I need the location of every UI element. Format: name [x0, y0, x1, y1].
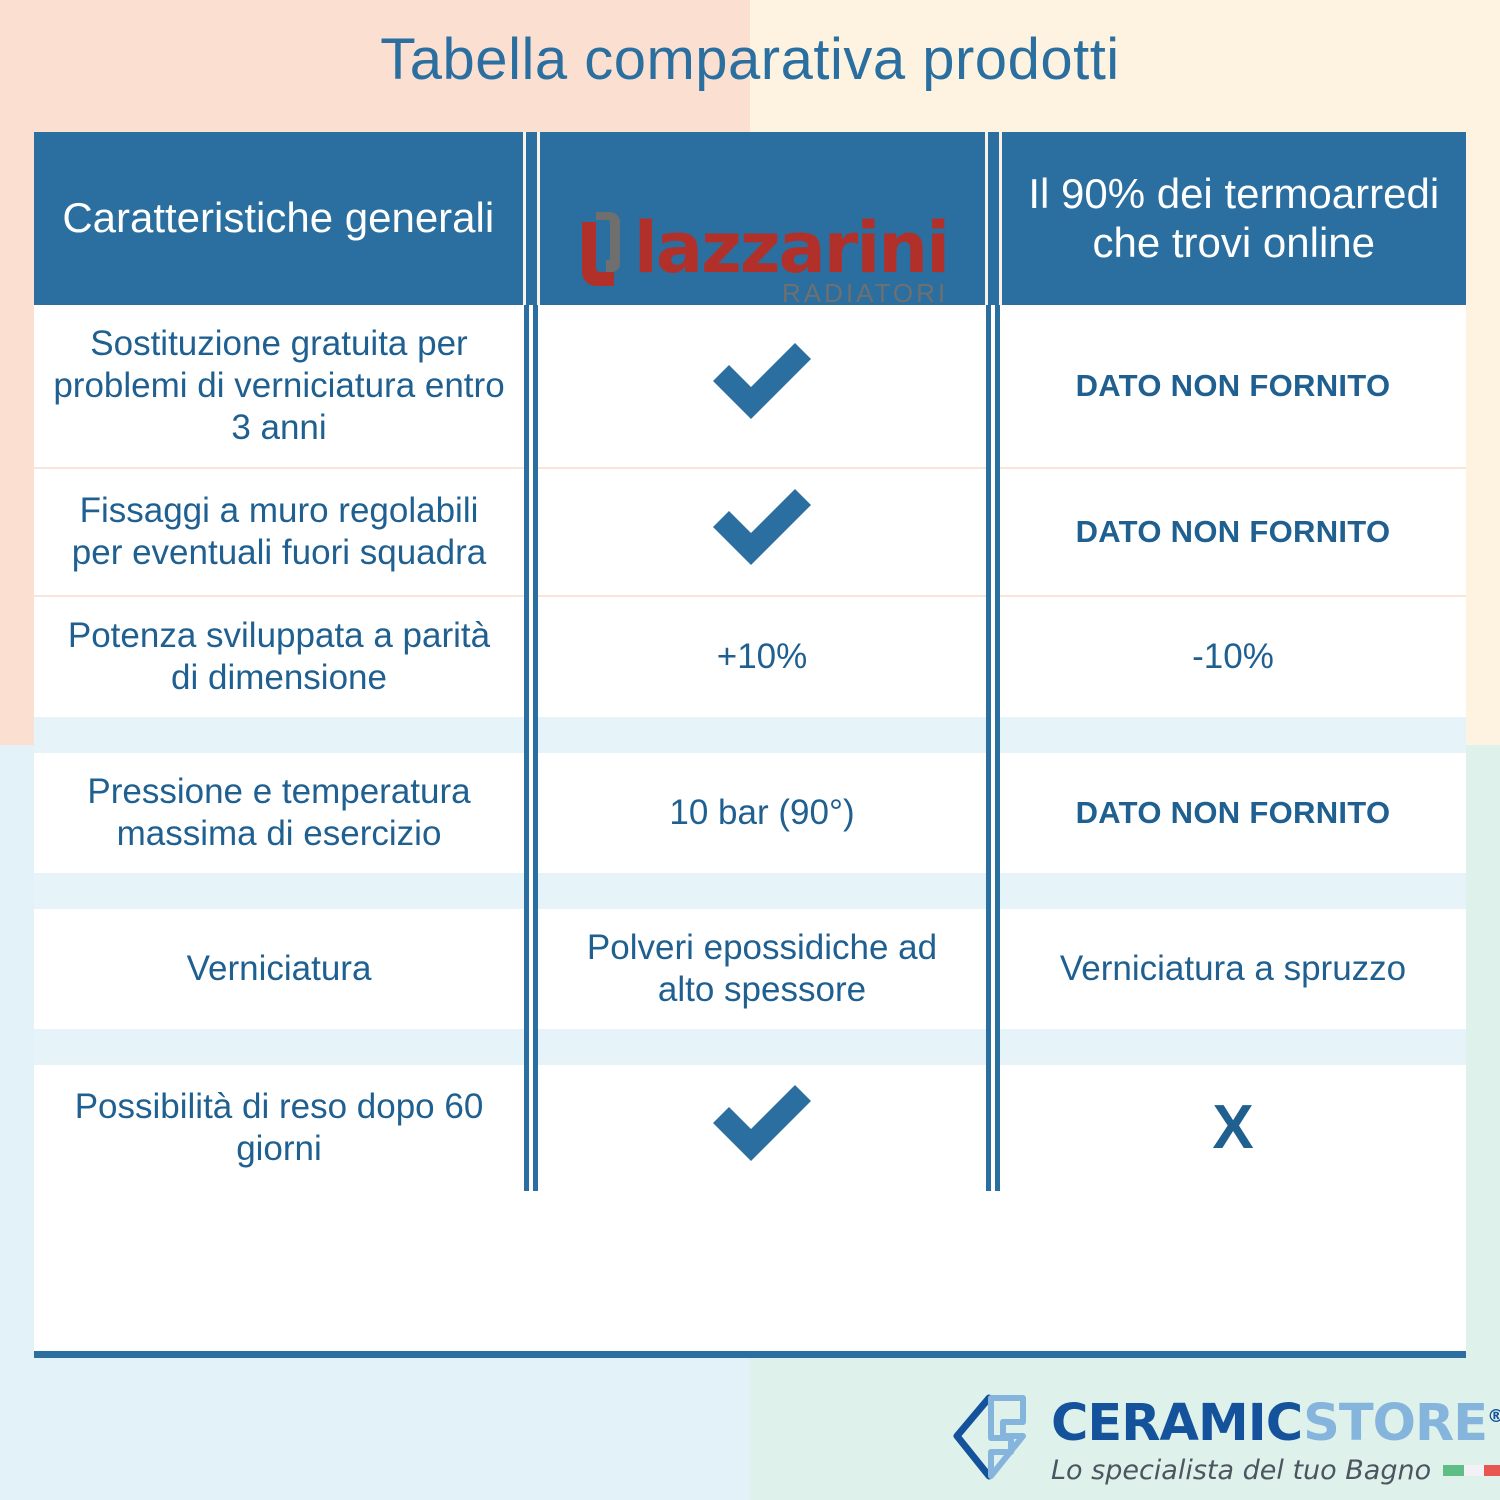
row-feature-label: Sostituzione gratuita per problemi di ve…: [34, 305, 524, 467]
check-icon: [707, 341, 817, 421]
table-row: Possibilità di reso dopo 60 giorni X: [34, 1065, 1466, 1191]
row-lazzarini-value: 10 bar (90°): [538, 753, 986, 873]
column-divider: [524, 1065, 538, 1191]
column-divider: [986, 753, 1000, 873]
header-divider-1: [524, 132, 538, 305]
lazzarini-logo: lazzarini RADIATORI: [554, 132, 971, 305]
comparison-table: Caratteristiche generali lazzarini RADIA: [34, 132, 1466, 1191]
row-competitor-value: DATO NON FORNITO: [1000, 305, 1466, 467]
table-header: Caratteristiche generali lazzarini RADIA: [34, 132, 1466, 305]
row-feature-label: Pressione e temperatura massima di eserc…: [34, 753, 524, 873]
row-separator: [34, 1029, 1466, 1065]
header-competitor-column: Il 90% dei termoarredi che trovi online: [1000, 132, 1466, 305]
check-icon: [707, 1083, 817, 1163]
check-icon: [707, 487, 817, 567]
table-row: Potenza sviluppata a parità di dimension…: [34, 597, 1466, 717]
row-competitor-value: -10%: [1000, 597, 1466, 717]
ceramic-word: CERAMIC: [1051, 1394, 1303, 1453]
header-divider-2: [986, 132, 1000, 305]
row-feature-label: Verniciatura: [34, 909, 524, 1029]
lazzarini-word: lazzarini: [634, 217, 948, 280]
ceramicstore-mark-icon: [945, 1392, 1037, 1489]
row-competitor-value: X: [1000, 1065, 1466, 1191]
row-separator: [34, 717, 1466, 753]
table-row: Verniciatura Polveri epossidiche ad alto…: [34, 909, 1466, 1029]
column-divider: [524, 753, 538, 873]
table-row: Fissaggi a muro regolabili per eventuali…: [34, 469, 1466, 595]
ceramicstore-tagline-row: Lo specialista del tuo Bagno: [1051, 1457, 1500, 1484]
row-feature-label: Potenza sviluppata a parità di dimension…: [34, 597, 524, 717]
column-divider: [986, 909, 1000, 1029]
row-feature-label: Possibilità di reso dopo 60 giorni: [34, 1065, 524, 1191]
row-separator: [34, 873, 1466, 909]
ceramicstore-wordmark: CERAMICSTORE® Lo specialista del tuo Bag…: [1051, 1398, 1500, 1484]
row-lazzarini-value: Polveri epossidiche ad alto spessore: [538, 909, 986, 1029]
table-row: Sostituzione gratuita per problemi di ve…: [34, 305, 1466, 467]
header-brand-column: lazzarini RADIATORI: [538, 132, 986, 305]
italian-flag-icon: [1443, 1465, 1500, 1476]
column-divider: [524, 469, 538, 595]
column-divider: [524, 909, 538, 1029]
lazzarini-wordmark: lazzarini RADIATORI: [634, 217, 948, 305]
row-competitor-value: Verniciatura a spruzzo: [1000, 909, 1466, 1029]
page-title: Tabella comparativa prodotti: [0, 28, 1500, 92]
registered-mark: ®: [1487, 1406, 1500, 1427]
lazzarini-subtitle: RADIATORI: [782, 282, 948, 305]
table-row: Pressione e temperatura massima di eserc…: [34, 753, 1466, 873]
row-lazzarini-value: [538, 469, 986, 595]
column-divider: [986, 305, 1000, 467]
column-divider: [986, 597, 1000, 717]
header-feature-column: Caratteristiche generali: [34, 132, 524, 305]
ceramicstore-name: CERAMICSTORE®: [1051, 1398, 1500, 1449]
lazzarini-hook-mark-icon: [576, 208, 628, 305]
store-word: STORE: [1303, 1394, 1487, 1453]
column-divider: [986, 469, 1000, 595]
table-body: Sostituzione gratuita per problemi di ve…: [34, 305, 1466, 1191]
row-feature-label: Fissaggi a muro regolabili per eventuali…: [34, 469, 524, 595]
row-competitor-value: DATO NON FORNITO: [1000, 469, 1466, 595]
comparison-table-container: Caratteristiche generali lazzarini RADIA: [34, 132, 1466, 1358]
row-competitor-value: DATO NON FORNITO: [1000, 753, 1466, 873]
column-divider: [524, 305, 538, 467]
column-divider: [986, 1065, 1000, 1191]
row-lazzarini-value: [538, 1065, 986, 1191]
row-lazzarini-value: [538, 305, 986, 467]
table-header-row: Caratteristiche generali lazzarini RADIA: [34, 132, 1466, 305]
column-divider: [524, 597, 538, 717]
ceramicstore-tagline: Lo specialista del tuo Bagno: [1051, 1457, 1431, 1484]
ceramicstore-logo: CERAMICSTORE® Lo specialista del tuo Bag…: [945, 1392, 1500, 1489]
row-lazzarini-value: +10%: [538, 597, 986, 717]
